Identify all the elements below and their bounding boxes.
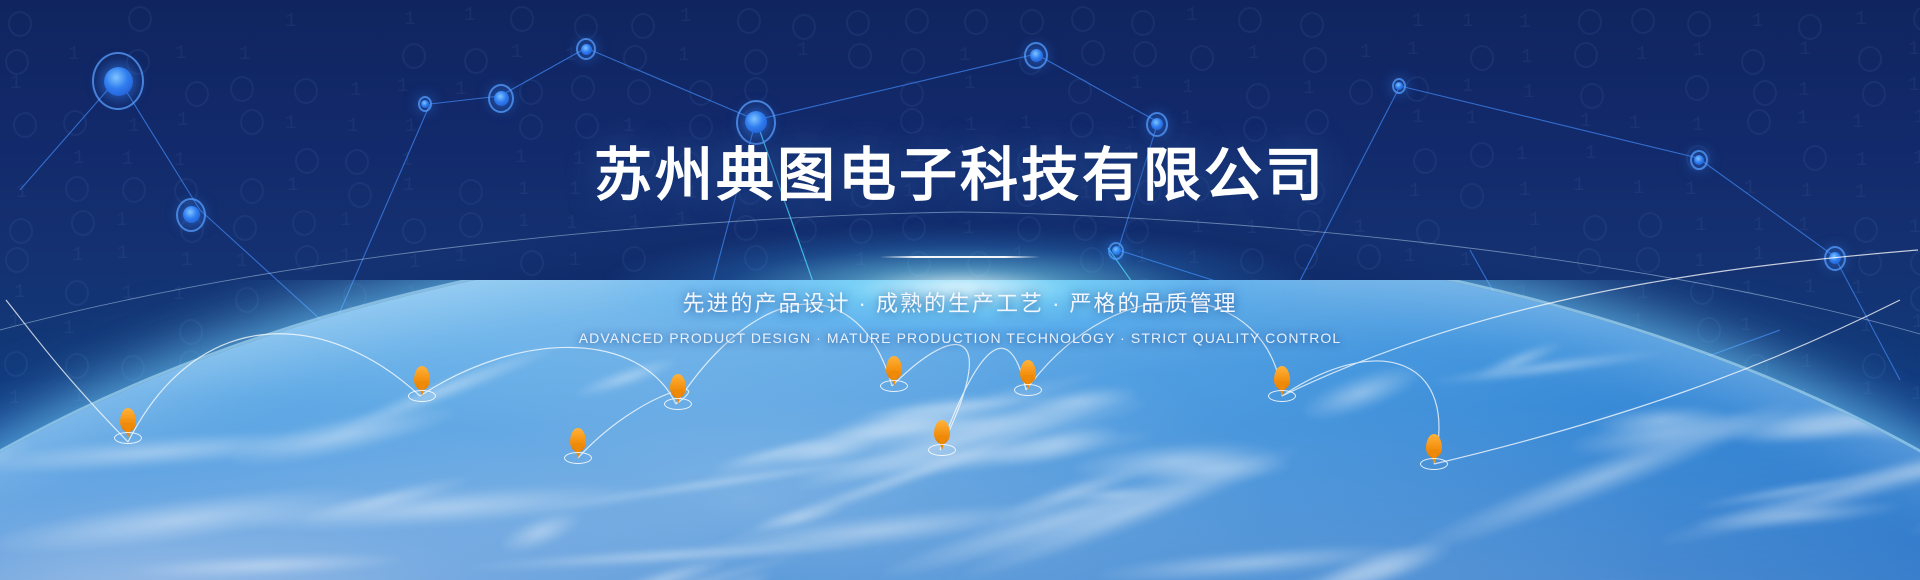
map-location-pin — [118, 408, 138, 442]
pin-base-ring-icon — [1420, 458, 1448, 470]
company-hero-banner: 1111111111111111111111111111111111111111… — [0, 0, 1920, 580]
pin-base-ring-icon — [664, 398, 692, 410]
pin-base-ring-icon — [564, 452, 592, 464]
map-location-pin — [1018, 360, 1038, 394]
title-divider — [880, 256, 1040, 258]
pin-base-ring-icon — [928, 444, 956, 456]
map-location-pin — [668, 374, 688, 408]
pin-base-ring-icon — [880, 380, 908, 392]
subtitle-chinese: 先进的产品设计 · 成熟的生产工艺 · 严格的品质管理 — [0, 286, 1920, 318]
subtitle-english: ADVANCED PRODUCT DESIGN · MATURE PRODUCT… — [0, 330, 1920, 346]
map-location-pin — [1272, 366, 1292, 400]
map-location-pin — [932, 420, 952, 454]
page-title: 苏州典图电子科技有限公司 — [0, 0, 1920, 212]
map-location-pin — [412, 366, 432, 400]
pin-base-ring-icon — [1014, 384, 1042, 396]
pin-base-ring-icon — [1268, 390, 1296, 402]
map-location-pin — [568, 428, 588, 462]
hero-text-block: 苏州典图电子科技有限公司 先进的产品设计 · 成熟的生产工艺 · 严格的品质管理… — [0, 0, 1920, 346]
pin-base-ring-icon — [408, 390, 436, 402]
map-location-pin — [1424, 434, 1444, 468]
map-location-pin — [884, 356, 904, 390]
pin-base-ring-icon — [114, 432, 142, 444]
